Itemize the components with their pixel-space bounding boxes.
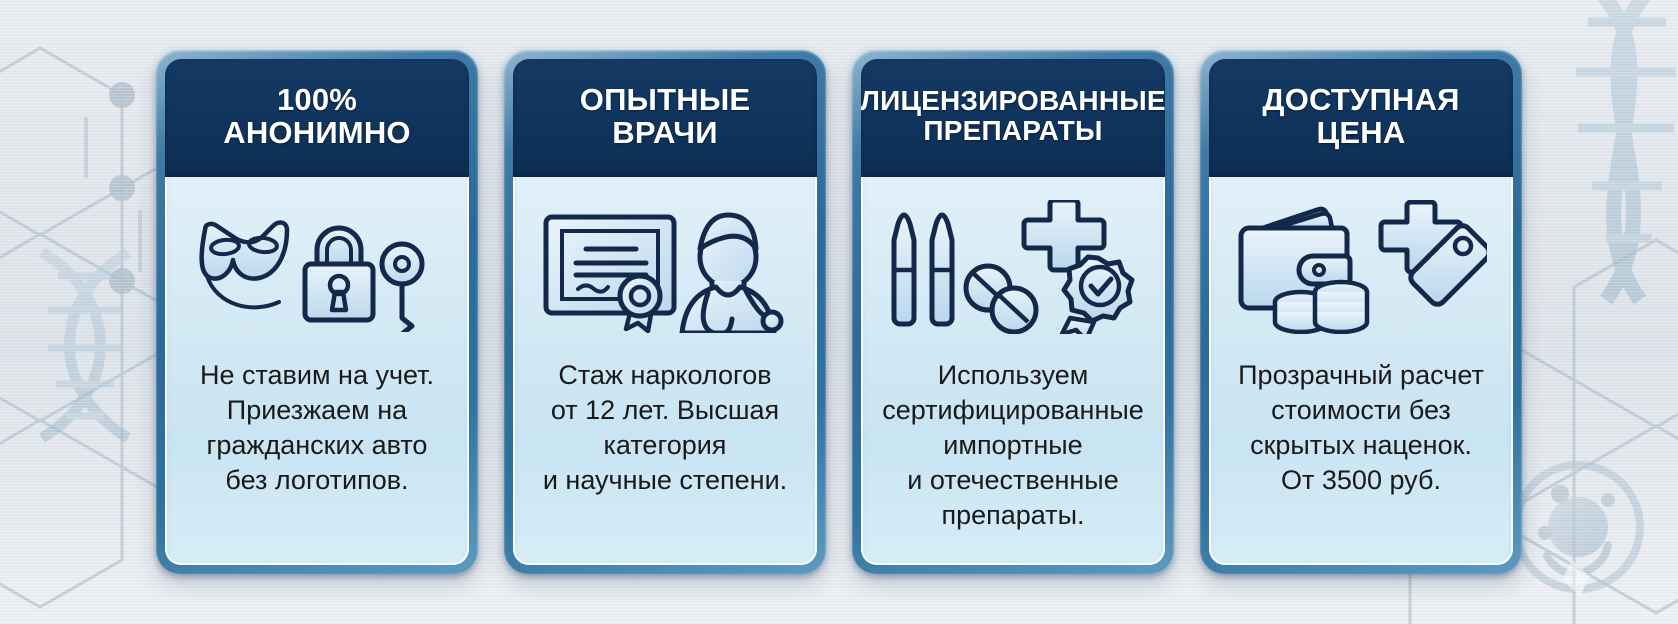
feature-card-anonymous[interactable]: 100% АНОНИМНО (156, 50, 478, 574)
card-body: Используем сертифицированные импортные и… (861, 352, 1165, 565)
card-header: 100% АНОНИМНО (165, 59, 469, 177)
card-inner: ДОСТУПНАЯ ЦЕНА (1209, 59, 1513, 565)
certificate-seal-icon (620, 276, 660, 331)
feature-card-experienced-doctors[interactable]: ОПЫТНЫЕ ВРАЧИ (504, 50, 826, 574)
card-title: ОПЫТНЫЕ ВРАЧИ (580, 83, 751, 150)
feature-card-affordable-price[interactable]: ДОСТУПНАЯ ЦЕНА (1200, 50, 1522, 574)
card-body: Прозрачный расчет стоимости без скрытых … (1209, 352, 1513, 565)
card-description: Используем сертифицированные импортные и… (882, 358, 1144, 533)
card-header: ДОСТУПНАЯ ЦЕНА (1209, 59, 1513, 177)
card-inner: ОПЫТНЫЕ ВРАЧИ (513, 59, 817, 565)
feature-card-licensed-medications[interactable]: ЛИЦЕНЗИРОВАННЫЕ ПРЕПАРАТЫ (852, 50, 1174, 574)
card-body: Не ставим на учет. Приезжаем на гражданс… (165, 352, 469, 565)
card-description: Не ставим на учет. Приезжаем на гражданс… (200, 358, 434, 498)
feature-cards-row: 100% АНОНИМНО (0, 0, 1678, 624)
ampoule-icon (894, 215, 914, 324)
card-icon-group (513, 177, 817, 352)
card-header: ЛИЦЕНЗИРОВАННЫЕ ПРЕПАРАТЫ (861, 59, 1165, 177)
card-title: ЛИЦЕНЗИРОВАННЫЕ ПРЕПАРАТЫ (861, 86, 1165, 146)
card-icon-group (861, 177, 1165, 352)
ampoule-icon (932, 215, 952, 324)
padlock-icon (305, 228, 373, 320)
card-inner: ЛИЦЕНЗИРОВАННЫЕ ПРЕПАРАТЫ (861, 59, 1165, 565)
card-icon-group (1209, 177, 1513, 352)
card-description: Стаж наркологов от 12 лет. Высшая катего… (543, 358, 787, 498)
pills-icon (966, 266, 1036, 332)
card-header: ОПЫТНЫЕ ВРАЧИ (513, 59, 817, 177)
card-inner: 100% АНОНИМНО (165, 59, 469, 565)
card-body: Стаж наркологов от 12 лет. Высшая катего… (513, 352, 817, 565)
card-title: ДОСТУПНАЯ ЦЕНА (1262, 83, 1459, 150)
card-description: Прозрачный расчет стоимости без скрытых … (1238, 358, 1484, 498)
card-icon-group (165, 177, 469, 352)
quality-badge-icon (1062, 257, 1132, 334)
card-title: 100% АНОНИМНО (223, 83, 410, 150)
